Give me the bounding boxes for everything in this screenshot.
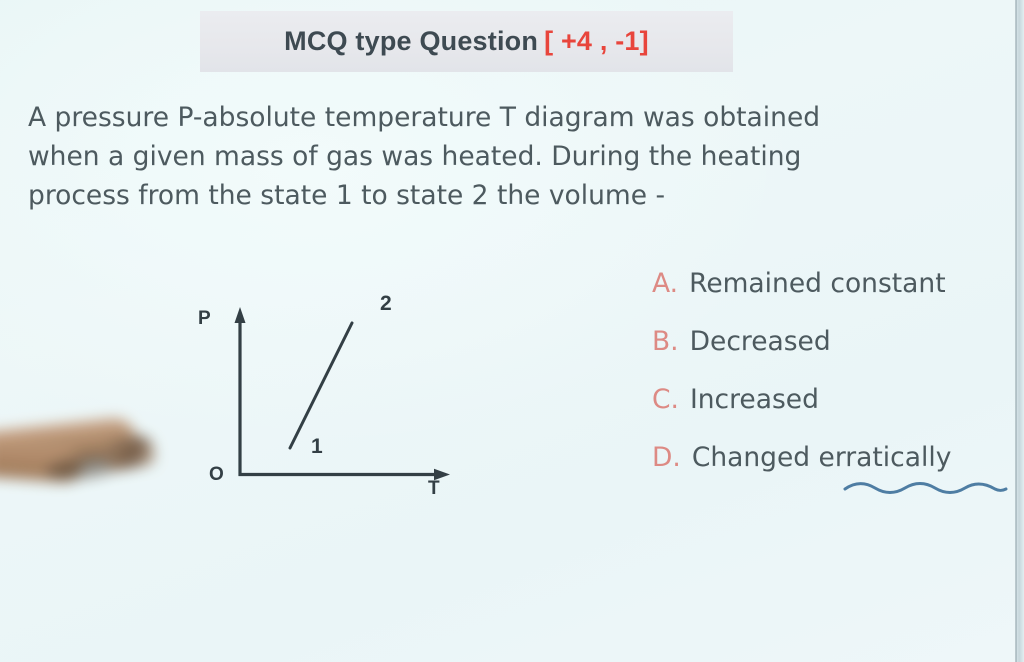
diagram-svg — [180, 280, 480, 510]
banner-score: [ +4 , -1] — [544, 26, 649, 56]
axis-label-pressure: P — [198, 308, 211, 330]
banner-title: MCQ type Question[ +4 , -1] — [284, 26, 649, 57]
blurred-arm-lower-shape — [0, 443, 83, 484]
option-c[interactable]: C. Increased — [652, 384, 1012, 442]
option-c-letter: C. — [652, 384, 679, 415]
page-right-edge-line — [1015, 0, 1017, 662]
blurred-shadow-shape — [45, 451, 127, 484]
state-label-2: 2 — [380, 292, 392, 316]
squiggle-underline-annotation — [843, 478, 1008, 498]
question-line-2: when a given mass of gas was heated. Dur… — [28, 137, 996, 176]
option-d-label: Changed erratically — [692, 442, 952, 473]
squiggle-path — [845, 484, 1006, 493]
question-line-1: A pressure P-absolute temperature T diag… — [28, 98, 996, 137]
axis-label-temperature: T — [428, 478, 440, 500]
option-b-label: Decreased — [690, 326, 831, 357]
question-statement: A pressure P-absolute temperature T diag… — [28, 98, 996, 215]
option-c-label: Increased — [690, 384, 819, 415]
option-a-letter: A. — [652, 268, 678, 299]
blurred-tip-shape — [104, 434, 156, 472]
banner-title-main: MCQ type Question — [284, 26, 538, 56]
page-right-edge — [1016, 0, 1024, 662]
axis-label-origin: O — [209, 464, 224, 486]
option-a-label: Remained constant — [689, 268, 946, 299]
option-b-letter: B. — [652, 326, 679, 357]
pressure-temperature-diagram: P O T 1 2 — [180, 280, 480, 510]
state-label-1: 1 — [311, 435, 323, 459]
question-line-3: process from the state 1 to state 2 the … — [28, 176, 996, 215]
slide-page: MCQ type Question[ +4 , -1] A pressure P… — [0, 0, 1024, 662]
option-b[interactable]: B. Decreased — [652, 326, 1012, 384]
option-d-letter: D. — [652, 442, 681, 473]
process-line-1-to-2 — [290, 323, 352, 448]
blurred-arm-shape — [0, 416, 138, 471]
p-axis-arrowhead — [235, 307, 246, 323]
question-type-banner: MCQ type Question[ +4 , -1] — [200, 11, 733, 72]
option-a[interactable]: A. Remained constant — [652, 268, 1012, 326]
blurred-hand-object — [0, 398, 182, 510]
answer-options-list: A. Remained constant B. Decreased C. Inc… — [652, 268, 1012, 500]
